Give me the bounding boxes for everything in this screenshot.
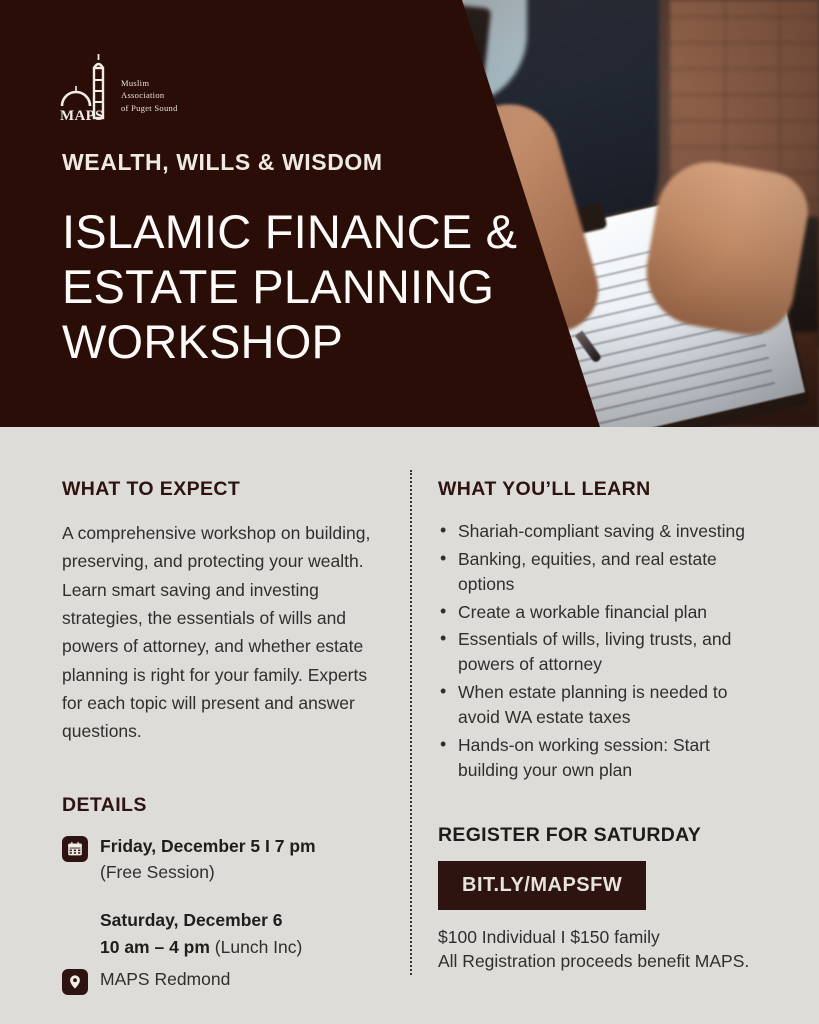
learn-list: Shariah-compliant saving & investing Ban… [438,519,768,782]
pricing-info: $100 Individual I $150 family All Regist… [438,926,768,973]
details-heading: DETAILS [62,794,382,817]
list-item: Create a workable financial plan [438,600,768,625]
maps-logo: MAPS Muslim Association of Puget Sound [58,52,178,124]
hero-section: CONTRACT [0,0,819,427]
detail-icon-spacer [62,907,88,908]
friday-date-time: Friday, December 5 I 7 pm [100,836,316,856]
left-column: WHAT TO EXPECT A comprehensive workshop … [62,478,382,1001]
what-to-expect-body: A comprehensive workshop on building, pr… [62,519,382,746]
register-heading: REGISTER FOR SATURDAY [438,824,768,847]
friday-note: (Free Session) [100,862,215,882]
list-item: Shariah-compliant saving & investing [438,519,768,544]
list-item: When estate planning is needed to avoid … [438,680,768,730]
saturday-detail-text: Saturday, December 6 10 am – 4 pm (Lunch… [100,907,302,960]
list-item: Essentials of wills, living trusts, and … [438,627,768,677]
details-spacer [62,891,382,907]
logo-org-line-1: Muslim [121,77,178,89]
detail-row-saturday: Saturday, December 6 10 am – 4 pm (Lunch… [62,907,382,960]
hero-eyebrow: WEALTH, WILLS & WISDOM [62,149,383,176]
location-text: MAPS Redmond [100,966,230,992]
what-youll-learn-heading: WHAT YOU’LL LEARN [438,478,768,501]
calendar-icon [62,836,88,862]
maps-logo-wordmark: Muslim Association of Puget Sound [121,77,178,124]
right-column: WHAT YOU’LL LEARN Shariah-compliant savi… [438,478,768,974]
proceeds-line: All Registration proceeds benefit MAPS. [438,951,749,971]
saturday-time-note: (Lunch Inc) [215,937,303,957]
saturday-time: 10 am – 4 pm [100,937,215,957]
map-pin-icon [62,969,88,995]
svg-text:MAPS: MAPS [60,108,104,124]
register-link-button[interactable]: BIT.LY/MAPSFW [438,861,646,910]
logo-org-line-3: of Puget Sound [121,102,178,114]
price-line: $100 Individual I $150 family [438,927,660,947]
what-to-expect-heading: WHAT TO EXPECT [62,478,382,501]
column-divider [410,470,412,975]
page-title: ISLAMIC FINANCE & ESTATE PLANNING WORKSH… [62,205,517,370]
event-poster: CONTRACT [0,0,819,1024]
saturday-date: Saturday, December 6 [100,910,283,930]
list-item: Hands-on working session: Start building… [438,733,768,783]
list-item: Banking, equities, and real estate optio… [438,547,768,597]
logo-org-line-2: Association [121,89,178,101]
detail-row-friday: Friday, December 5 I 7 pm (Free Session) [62,833,382,886]
detail-row-location: MAPS Redmond [62,966,382,995]
friday-detail-text: Friday, December 5 I 7 pm (Free Session) [100,833,316,886]
maps-logo-mark-icon: MAPS [58,52,114,124]
